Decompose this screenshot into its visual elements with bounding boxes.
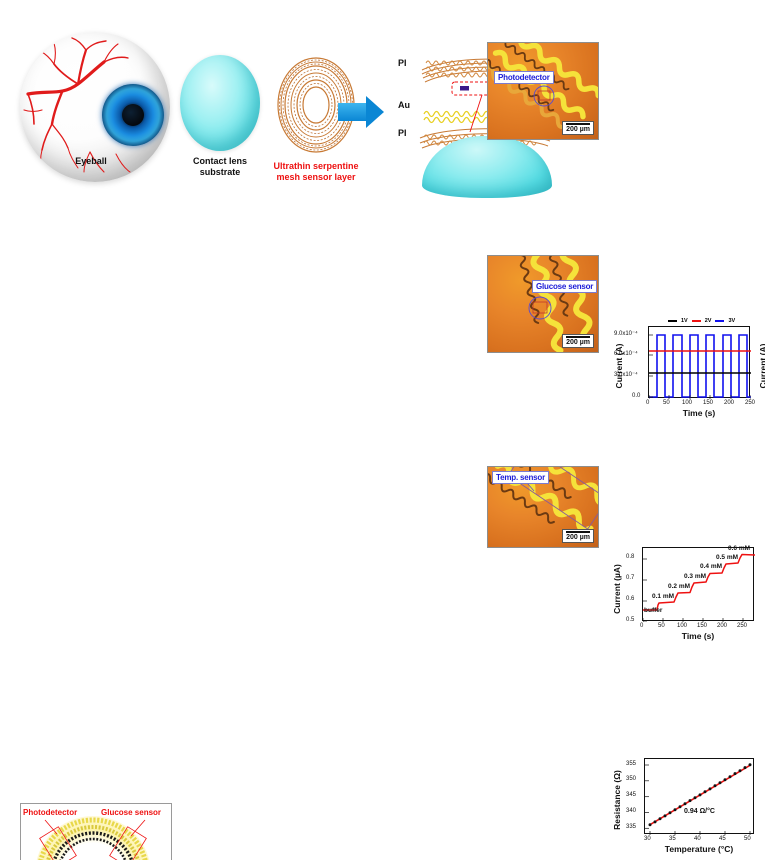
eyeball-illustration: Eyeball xyxy=(18,28,178,193)
lens-substrate-shape xyxy=(180,55,260,151)
photodetector-legend: 1V 2V 3V xyxy=(668,318,735,324)
micrograph-photodetector: Photodetector 200 µm xyxy=(487,42,599,140)
temperature-xlabel: Temperature (°C) xyxy=(644,844,754,854)
temperature-ytick-2: 345 xyxy=(626,792,636,798)
photodetector-ytick-3: 9.0x10⁻⁴ xyxy=(614,330,638,337)
temperature-ytick-4: 355 xyxy=(626,761,636,767)
photodetector-ytick-0: 0.0 xyxy=(632,393,640,399)
glucose-step-label-0.5: 0.5 mM xyxy=(716,554,738,561)
temperature-xtick-2: 40 xyxy=(694,836,701,842)
arrow-shaft xyxy=(338,103,366,121)
lens-layout-schematic: Photodetector Glucose sensor Temp. senso… xyxy=(20,803,172,860)
glucose-xtick-0: 0 xyxy=(640,623,643,629)
photodetector-xtick-1: 50 xyxy=(663,400,670,406)
temperature-xtick-0: 30 xyxy=(644,836,651,842)
scalebar-line xyxy=(566,336,590,338)
stack-label-pi-bottom: PI xyxy=(398,128,407,138)
temperature-xtick-4: 50 xyxy=(744,836,751,842)
photodetector-ylabel: Current (A) xyxy=(614,326,624,406)
lens-substrate-label-line2: substrate xyxy=(172,167,268,178)
glucose-xtick-1: 50 xyxy=(658,623,665,629)
eyeball-label: Eyeball xyxy=(56,156,126,167)
scalebar-text: 200 µm xyxy=(566,339,590,346)
schematic-label-photodetector: Photodetector xyxy=(23,808,77,817)
micrograph-temperature: Temp. sensor 200 µm xyxy=(487,466,599,548)
glucose-ylabel: Current (µA) xyxy=(612,549,622,629)
iris xyxy=(102,84,164,146)
glucose-step-label-0.2: 0.2 mM xyxy=(668,583,690,590)
scalebar-text: 200 µm xyxy=(566,126,590,133)
glucose-ytick-0: 0.5 xyxy=(626,617,634,623)
micrograph-tag-temperature: Temp. sensor xyxy=(492,471,549,484)
scalebar-temperature: 200 µm xyxy=(562,529,594,543)
glucose-step-label-0.6: 0.6 mM xyxy=(728,545,750,552)
glucose-xlabel: Time (s) xyxy=(642,631,754,641)
temperature-ytick-3: 350 xyxy=(626,776,636,782)
glucose-ytick-2: 0.7 xyxy=(626,575,634,581)
photodetector-ytick-1: 3.0x10⁻⁴ xyxy=(614,371,638,378)
glucose-plot: Current (µA) buffer 0.1 mM 0.2 mM 0.3 mM… xyxy=(606,541,761,646)
temperature-xtick-3: 45 xyxy=(719,836,726,842)
pupil xyxy=(122,104,144,126)
glucose-step-label-0.1: 0.1 mM xyxy=(652,593,674,600)
legend-swatch-1v xyxy=(668,320,677,323)
legend-swatch-2v xyxy=(692,320,701,323)
legend-swatch-3v xyxy=(715,320,724,323)
photodetector-axes xyxy=(648,326,750,398)
photodetector-ylabel-right: Current (A) xyxy=(758,326,765,406)
schematic-label-glucose: Glucose sensor xyxy=(101,808,161,817)
micrograph-tag-glucose: Glucose sensor xyxy=(532,280,597,293)
mesh-label-line2: mesh sensor layer xyxy=(258,172,374,183)
micrograph-tag-photodetector: Photodetector xyxy=(494,71,554,84)
mesh-label-line1: Ultrathin serpentine xyxy=(258,161,374,172)
glucose-step-label-0.3: 0.3 mM xyxy=(684,573,706,580)
photodetector-xtick-0: 0 xyxy=(646,400,649,406)
photodetector-xtick-5: 250 xyxy=(745,400,755,406)
photodetector-xtick-2: 100 xyxy=(682,400,692,406)
legend-label-3v: 3V xyxy=(728,318,735,324)
photodetector-xtick-3: 150 xyxy=(703,400,713,406)
temperature-axes xyxy=(644,758,754,834)
glucose-step-label-0.4: 0.4 mM xyxy=(700,563,722,570)
temperature-ylabel: Resistance (Ω) xyxy=(612,758,622,842)
temperature-slope-annotation: 0.94 Ω/°C xyxy=(684,808,715,815)
scalebar-line xyxy=(566,123,590,125)
scalebar-line xyxy=(566,531,590,533)
photodetector-xlabel: Time (s) xyxy=(648,408,750,418)
glucose-xtick-5: 250 xyxy=(737,623,747,629)
scalebar-text: 200 µm xyxy=(566,534,590,541)
lens-substrate-label-line1: Contact lens xyxy=(172,156,268,167)
scalebar-photodetector: 200 µm xyxy=(562,121,594,135)
glucose-step-label-buffer: buffer xyxy=(644,607,662,614)
legend-label-1v: 1V xyxy=(681,318,688,324)
photodetector-xtick-4: 200 xyxy=(724,400,734,406)
glucose-ytick-3: 0.8 xyxy=(626,554,634,560)
glucose-xtick-2: 100 xyxy=(677,623,687,629)
glucose-xtick-4: 200 xyxy=(717,623,727,629)
temperature-xtick-1: 35 xyxy=(669,836,676,842)
photodetector-ytick-2: 6.0x10⁻⁴ xyxy=(614,350,638,357)
stack-label-au: Au xyxy=(398,100,410,110)
temperature-plot: Resistance (Ω) xyxy=(606,754,761,859)
temperature-ytick-0: 335 xyxy=(626,824,636,830)
contact-lens-substrate-illustration: Contact lens substrate xyxy=(172,55,268,195)
stack-label-pi-top: PI xyxy=(398,58,407,68)
glucose-ytick-1: 0.6 xyxy=(626,596,634,602)
micrograph-glucose: Glucose sensor 200 µm xyxy=(487,255,599,353)
legend-label-2v: 2V xyxy=(705,318,712,324)
scalebar-glucose: 200 µm xyxy=(562,334,594,348)
photodetector-plot: Current (A) Current (A) 1V 2V 3V xyxy=(606,316,761,421)
temperature-ytick-1: 340 xyxy=(626,808,636,814)
glucose-xtick-3: 150 xyxy=(697,623,707,629)
